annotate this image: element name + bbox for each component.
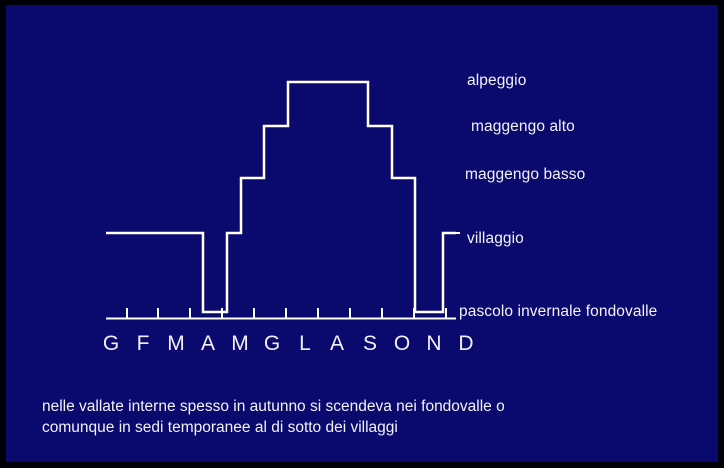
month-label-gennaio: G xyxy=(103,332,119,356)
level-label-maggengo-alto: maggengo alto xyxy=(471,118,575,136)
level-label-maggengo-basso: maggengo basso xyxy=(465,166,585,184)
month-label-maggio: M xyxy=(231,332,249,356)
month-label-marzo: M xyxy=(167,332,185,356)
month-label-agosto: A xyxy=(330,332,344,356)
level-label-villaggio: villaggio xyxy=(467,230,524,248)
month-label-aprile: A xyxy=(201,332,215,356)
month-label-dicembre: D xyxy=(458,332,473,356)
level-label-pascolo-invernale-fondovalle: pascolo invernale fondovalle xyxy=(459,303,657,321)
month-label-ottobre: O xyxy=(394,332,410,356)
figure-caption: nelle vallate interne spesso in autunno … xyxy=(42,396,662,438)
month-label-novembre: N xyxy=(426,332,441,356)
level-label-alpeggio: alpeggio xyxy=(467,72,526,90)
month-label-settembre: S xyxy=(363,332,377,356)
month-label-giugno: G xyxy=(264,332,280,356)
caption-line-2: comunque in sedi temporanee al di sotto … xyxy=(42,417,662,438)
month-label-febbraio: F xyxy=(137,332,150,356)
caption-line-1: nelle vallate interne spesso in autunno … xyxy=(42,396,662,417)
figure-canvas xyxy=(6,5,718,462)
month-label-luglio: L xyxy=(299,332,311,356)
figure-root: alpeggio maggengo alto maggengo basso vi… xyxy=(0,0,724,468)
